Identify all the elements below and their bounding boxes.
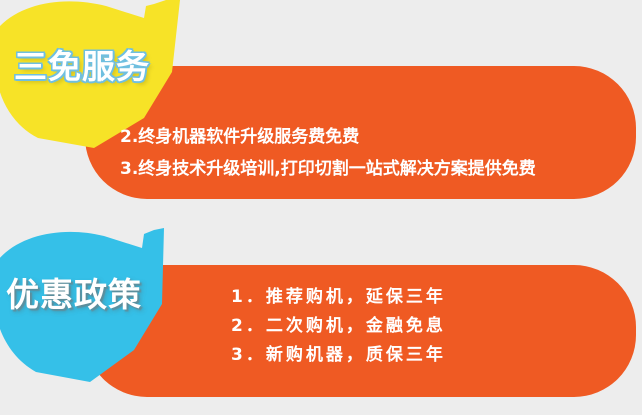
policy-line-2: 2．二次购机，金融免息 (231, 312, 446, 341)
policy-line-3: 3．新购机器，质保三年 (231, 341, 446, 370)
preferential-policy-lines: 1．推荐购机，延保三年 2．二次购机，金融免息 3．新购机器，质保三年 (231, 283, 446, 370)
preferential-policy-title: 优惠政策 (6, 268, 142, 316)
policy-line-1: 1．推荐购机，延保三年 (231, 283, 446, 312)
service-line-2: 3.终身技术升级培训,打印切割一站式解决方案提供免费 (120, 153, 536, 185)
three-free-service-lines: 2.终身机器软件升级服务费免费 3.终身技术升级培训,打印切割一站式解决方案提供… (120, 121, 536, 185)
service-line-1: 2.终身机器软件升级服务费免费 (120, 121, 536, 153)
three-free-service-title: 三免服务 (14, 40, 150, 88)
poster-canvas: 三免服务 2.终身机器软件升级服务费免费 3.终身技术升级培训,打印切割一站式解… (0, 0, 642, 415)
